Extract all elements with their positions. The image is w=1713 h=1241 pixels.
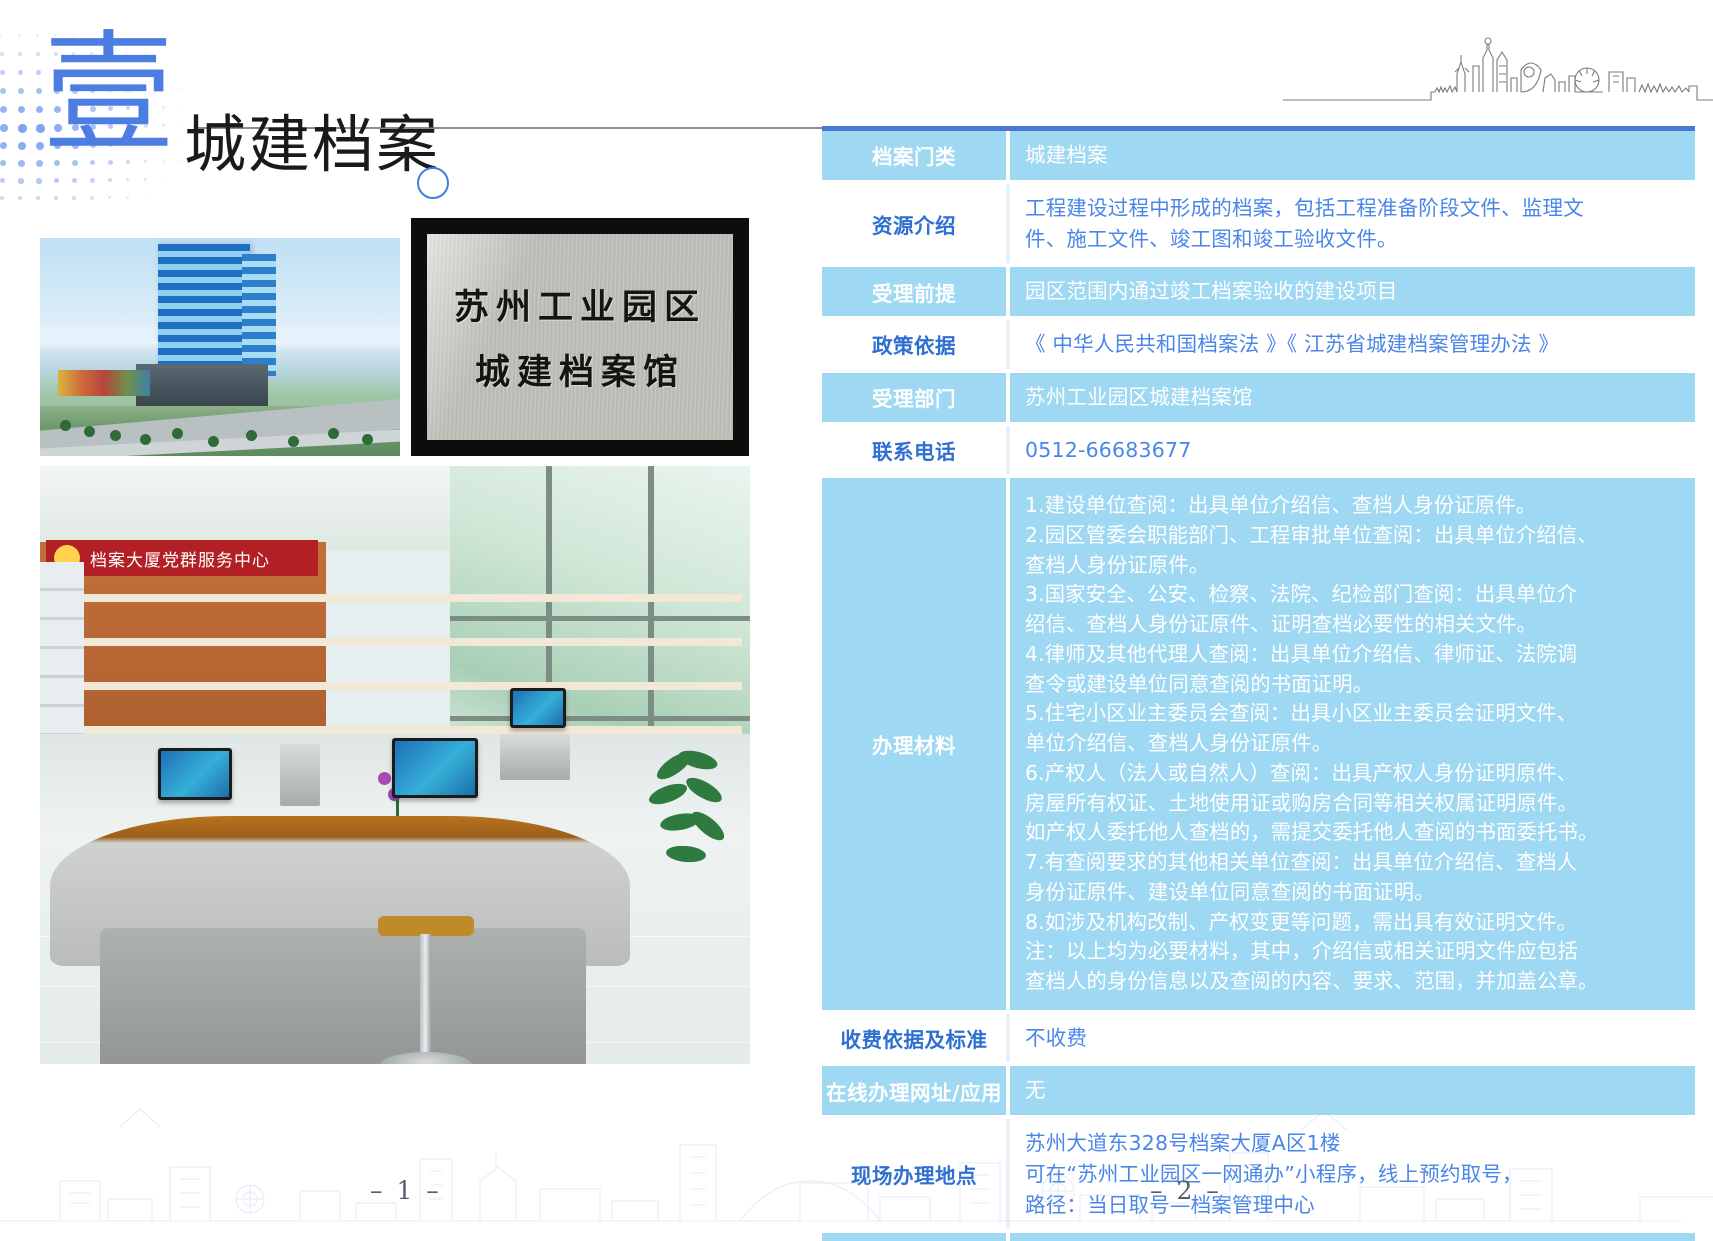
row-value-lines: 不收费 bbox=[1025, 1023, 1685, 1054]
grid-dot bbox=[198, 196, 199, 197]
service-hall-photo: 档案大厦党群服务中心 bbox=[40, 466, 750, 1064]
value-line: 件、施工文件、竣工图和竣工验收文件。 bbox=[1025, 224, 1685, 255]
hall-banner-text: 档案大厦党群服务中心 bbox=[46, 540, 318, 576]
grid-dot bbox=[18, 88, 24, 94]
value-line: 身份证原件、建设单位同意查阅的书面证明。 bbox=[1025, 878, 1685, 908]
row-value: 上午9：00-12：00，下午14：00-17：30（法定工作日） bbox=[1008, 1233, 1695, 1241]
row-value-lines: 0512-66683677 bbox=[1025, 435, 1685, 466]
table-row: 现场办理地点苏州大道东328号档案大厦A区1楼可在“苏州工业园区一网通办”小程序… bbox=[822, 1119, 1695, 1229]
city-skyline-icon bbox=[1283, 22, 1713, 118]
value-line: 城建档案 bbox=[1025, 140, 1685, 171]
grid-dot bbox=[18, 178, 24, 184]
value-line: 查档人身份证原件。 bbox=[1025, 551, 1685, 581]
section-numeral: 壹 bbox=[43, 28, 174, 159]
grid-dot bbox=[0, 142, 7, 149]
grid-dot bbox=[180, 196, 181, 197]
grid-dot bbox=[18, 16, 19, 17]
row-value-lines: 苏州工业园区城建档案馆 bbox=[1025, 382, 1685, 413]
page-number-right: – 2 – bbox=[1150, 1176, 1222, 1205]
value-line: 查令或建设单位同意查阅的书面证明。 bbox=[1025, 670, 1685, 700]
row-value: 城建档案 bbox=[1008, 131, 1695, 180]
value-line: 1.建设单位查阅：出具单位介绍信、查档人身份证原件。 bbox=[1025, 491, 1685, 521]
grid-dot bbox=[0, 160, 6, 166]
row-value: 0512-66683677 bbox=[1008, 426, 1695, 475]
row-value-lines: 苏州大道东328号档案大厦A区1楼可在“苏州工业园区一网通办”小程序，线上预约取… bbox=[1025, 1128, 1685, 1220]
circle-outline-icon bbox=[417, 167, 449, 199]
value-line: 单位介绍信、查档人身份证原件。 bbox=[1025, 729, 1685, 759]
grid-dot bbox=[18, 160, 25, 167]
value-line: 如产权人委托他人查档的，需提交委托他人查阅的书面委托书。 bbox=[1025, 818, 1685, 848]
archive-info-table: 档案门类城建档案资源介绍工程建设过程中形成的档案，包括工程准备阶段文件、监理文件… bbox=[822, 126, 1695, 1241]
grid-dot bbox=[234, 196, 235, 197]
page-number-left: – 1 – bbox=[370, 1176, 442, 1205]
row-value: 1.建设单位查阅：出具单位介绍信、查档人身份证原件。2.园区管委会职能部门、工程… bbox=[1008, 478, 1695, 1009]
page-title: 城建档案 bbox=[184, 112, 440, 177]
value-line: 7.有查阅要求的其他相关单位查阅：出具单位介绍信、查档人 bbox=[1025, 848, 1685, 878]
value-line: 不收费 bbox=[1025, 1023, 1685, 1054]
grid-dot bbox=[162, 196, 163, 197]
row-label: 政策依据 bbox=[822, 320, 1008, 369]
grid-dot bbox=[72, 196, 76, 200]
grid-dot bbox=[0, 34, 2, 36]
grid-dot bbox=[90, 196, 94, 200]
value-line: 3.国家安全、公安、检察、法院、纪检部门查阅：出具单位介 bbox=[1025, 580, 1685, 610]
grid-dot bbox=[18, 196, 22, 200]
table-row: 办理材料1.建设单位查阅：出具单位介绍信、查档人身份证原件。2.园区管委会职能部… bbox=[822, 478, 1695, 1009]
grid-dot bbox=[18, 52, 22, 56]
grid-dot bbox=[0, 16, 1, 17]
value-line: 2.园区管委会职能部门、工程审批单位查阅：出具单位介绍信、 bbox=[1025, 521, 1685, 551]
archives-plaque-photo: 苏州工业园区 城建档案馆 bbox=[411, 218, 749, 456]
value-line: 6.产权人（法人或自然人）查阅：出具产权人身份证明原件、 bbox=[1025, 759, 1685, 789]
value-line: 可在“苏州工业园区一网通办”小程序，线上预约取号， bbox=[1025, 1159, 1685, 1190]
value-line: 工程建设过程中形成的档案，包括工程准备阶段文件、监理文 bbox=[1025, 193, 1685, 224]
grid-dot bbox=[36, 16, 37, 17]
page-header-left: 壹 城建档案 bbox=[34, 34, 794, 184]
grid-dot bbox=[144, 196, 146, 198]
row-value-lines: 1.建设单位查阅：出具单位介绍信、查档人身份证原件。2.园区管委会职能部门、工程… bbox=[1025, 491, 1685, 996]
row-label: 在线办理网址/应用 bbox=[822, 1066, 1008, 1115]
row-label: 办理材料 bbox=[822, 478, 1008, 1009]
grid-dot bbox=[0, 178, 5, 183]
value-line: 《 中华人民共和国档案法 》《 江苏省城建档案管理办法 》 bbox=[1025, 329, 1685, 360]
row-value: 苏州工业园区城建档案馆 bbox=[1008, 373, 1695, 422]
grid-dot bbox=[0, 52, 4, 56]
row-value: 不收费 bbox=[1008, 1014, 1695, 1063]
grid-dot bbox=[54, 196, 58, 200]
row-value: 园区范围内通过竣工档案验收的建设项目 bbox=[1008, 267, 1695, 316]
archives-building-aerial-photo bbox=[40, 238, 400, 456]
grid-dot bbox=[0, 70, 5, 75]
grid-dot bbox=[18, 106, 25, 113]
plaque-line-1: 苏州工业园区 bbox=[454, 279, 706, 330]
grid-dot bbox=[216, 16, 217, 17]
grid-dot bbox=[0, 124, 8, 132]
row-label: 联系电话 bbox=[822, 426, 1008, 475]
table-row: 联系电话0512-66683677 bbox=[822, 426, 1695, 475]
row-label: 收费依据及标准 bbox=[822, 1014, 1008, 1063]
grid-dot bbox=[0, 88, 6, 94]
value-line: 园区范围内通过竣工档案验收的建设项目 bbox=[1025, 276, 1685, 307]
value-line: 无 bbox=[1025, 1075, 1685, 1106]
grid-dot bbox=[126, 196, 129, 199]
value-line: 5.住宅小区业主委员会查阅：出具小区业主委员会证明文件、 bbox=[1025, 699, 1685, 729]
row-label: 受理部门 bbox=[822, 373, 1008, 422]
grid-dot bbox=[36, 196, 40, 200]
value-line: 8.如涉及机构改制、产权变更等问题，需出具有效证明文件。 bbox=[1025, 908, 1685, 938]
value-line: 注：以上均为必要材料，其中，介绍信或相关证明文件应包括 bbox=[1025, 937, 1685, 967]
grid-dot bbox=[180, 16, 181, 17]
grid-dot bbox=[198, 16, 199, 17]
table-row: 收费依据及标准不收费 bbox=[822, 1014, 1695, 1063]
row-value-lines: 园区范围内通过竣工档案验收的建设项目 bbox=[1025, 276, 1685, 307]
row-value-lines: 无 bbox=[1025, 1075, 1685, 1106]
row-value: 无 bbox=[1008, 1066, 1695, 1115]
row-label: 现场办理地点 bbox=[822, 1119, 1008, 1229]
value-line: 房屋所有权证、土地使用证或购房合同等相关权属证明原件。 bbox=[1025, 789, 1685, 819]
grid-dot bbox=[0, 196, 4, 200]
table-row: 受理部门苏州工业园区城建档案馆 bbox=[822, 373, 1695, 422]
value-line: 查档人的身份信息以及查阅的内容、要求、范围，并加盖公章。 bbox=[1025, 967, 1685, 997]
grid-dot bbox=[18, 142, 26, 150]
value-line: 苏州工业园区城建档案馆 bbox=[1025, 382, 1685, 413]
value-line: 路径：当日取号—档案管理中心 bbox=[1025, 1190, 1685, 1221]
document-page: 壹 城建档案 bbox=[0, 0, 1713, 1241]
table-row: 受理前提园区范围内通过竣工档案验收的建设项目 bbox=[822, 267, 1695, 316]
row-label: 资源介绍 bbox=[822, 184, 1008, 264]
row-value-lines: 《 中华人民共和国档案法 》《 江苏省城建档案管理办法 》 bbox=[1025, 329, 1685, 360]
grid-dot bbox=[0, 106, 7, 113]
row-value-lines: 工程建设过程中形成的档案，包括工程准备阶段文件、监理文件、施工文件、竣工图和竣工… bbox=[1025, 193, 1685, 255]
row-value: 苏州大道东328号档案大厦A区1楼可在“苏州工业园区一网通办”小程序，线上预约取… bbox=[1008, 1119, 1695, 1229]
table-row: 在线办理网址/应用无 bbox=[822, 1066, 1695, 1115]
row-label: 受理前提 bbox=[822, 267, 1008, 316]
value-line: 绍信、查档人身份证原件、证明查档必要性的相关文件。 bbox=[1025, 610, 1685, 640]
row-value: 《 中华人民共和国档案法 》《 江苏省城建档案管理办法 》 bbox=[1008, 320, 1695, 369]
grid-dot bbox=[234, 16, 235, 17]
row-value: 工程建设过程中形成的档案，包括工程准备阶段文件、监理文件、施工文件、竣工图和竣工… bbox=[1008, 184, 1695, 264]
value-line: 4.律师及其他代理人查阅：出具单位介绍信、律师证、法院调 bbox=[1025, 640, 1685, 670]
value-line: 苏州大道东328号档案大厦A区1楼 bbox=[1025, 1128, 1685, 1159]
row-label: 现场办理时间 bbox=[822, 1233, 1008, 1241]
table-row: 档案门类城建档案 bbox=[822, 131, 1695, 180]
grid-dot bbox=[18, 34, 21, 37]
grid-dot bbox=[18, 70, 23, 75]
plaque-line-2: 城建档案馆 bbox=[475, 344, 685, 395]
info-table: 档案门类城建档案资源介绍工程建设过程中形成的档案，包括工程准备阶段文件、监理文件… bbox=[822, 131, 1695, 1241]
table-row: 现场办理时间上午9：00-12：00，下午14：00-17：30（法定工作日） bbox=[822, 1233, 1695, 1241]
value-line: 0512-66683677 bbox=[1025, 435, 1685, 466]
row-value-lines: 城建档案 bbox=[1025, 140, 1685, 171]
grid-dot bbox=[216, 196, 217, 197]
row-label: 档案门类 bbox=[822, 131, 1008, 180]
grid-dot bbox=[18, 124, 27, 133]
table-row: 政策依据《 中华人民共和国档案法 》《 江苏省城建档案管理办法 》 bbox=[822, 320, 1695, 369]
table-row: 资源介绍工程建设过程中形成的档案，包括工程准备阶段文件、监理文件、施工文件、竣工… bbox=[822, 184, 1695, 264]
grid-dot bbox=[108, 196, 111, 199]
